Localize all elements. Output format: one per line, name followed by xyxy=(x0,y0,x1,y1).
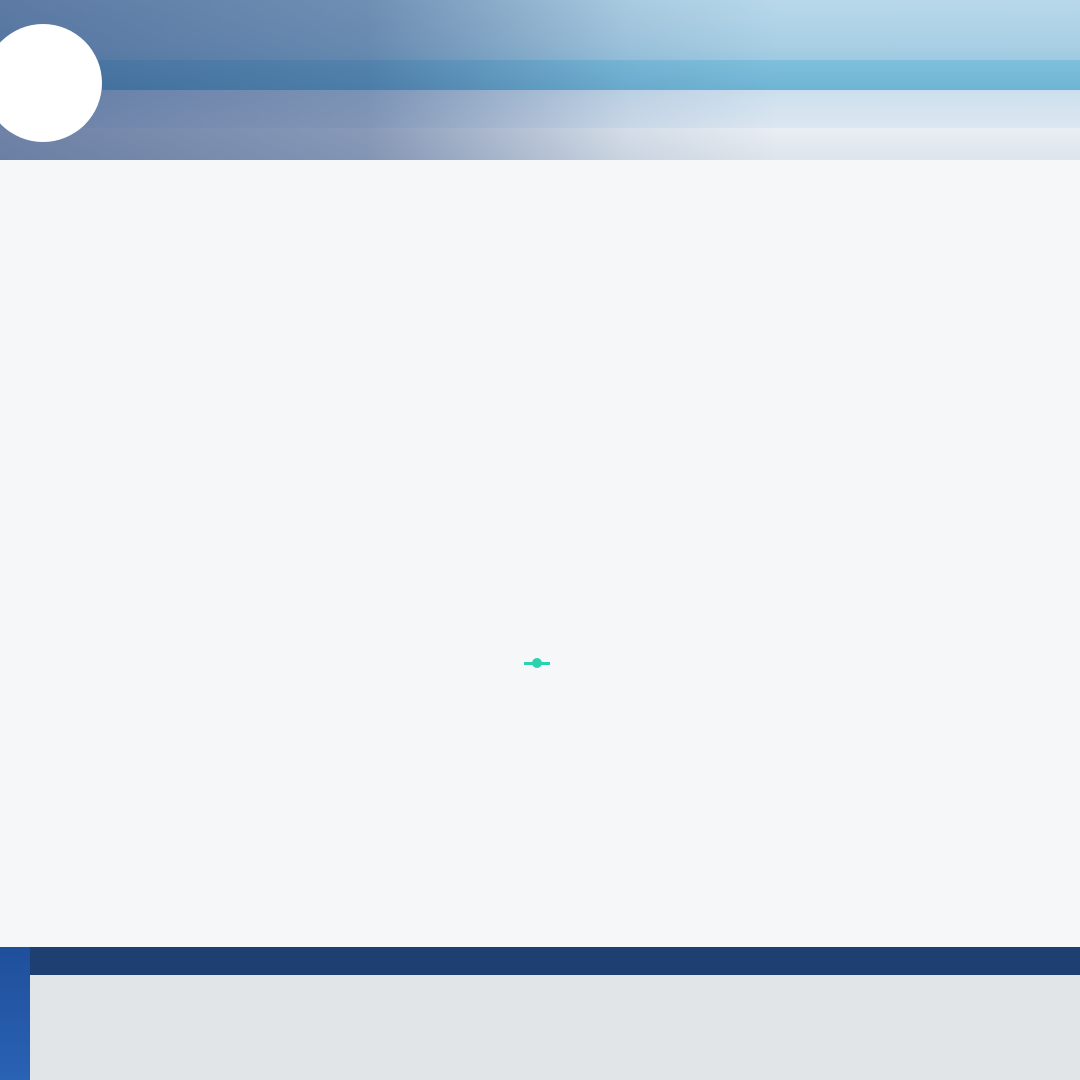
sst-legend-marker-icon xyxy=(524,662,550,665)
page-header xyxy=(0,0,1080,160)
legend-section xyxy=(0,947,1080,1080)
legend-side-banner xyxy=(0,947,30,1080)
header-gradient-overlay xyxy=(0,0,1080,160)
sst-chart-legend xyxy=(30,662,1050,665)
bmkg-logo-mark xyxy=(19,52,81,114)
legend-note xyxy=(30,947,1080,975)
sst-chart xyxy=(30,558,1050,680)
sst-chart-plot xyxy=(86,566,1034,638)
